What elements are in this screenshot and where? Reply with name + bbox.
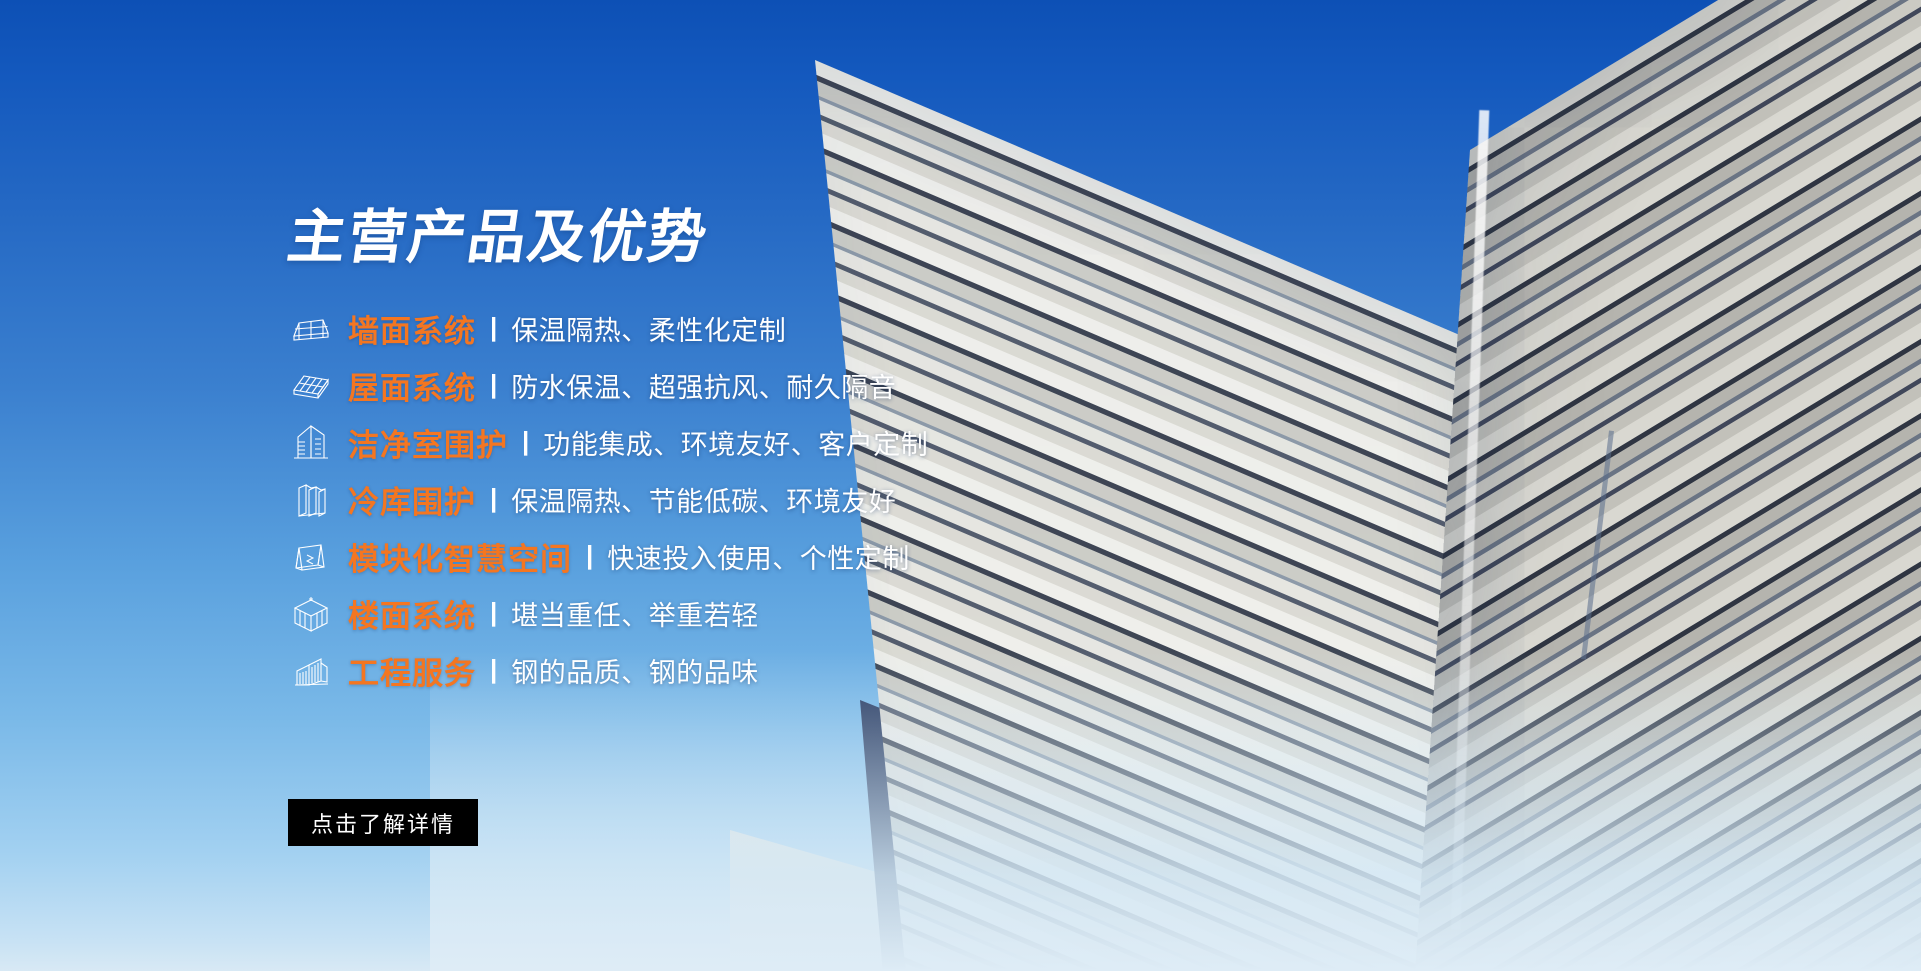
separator: | <box>586 540 593 571</box>
product-title: 工程服务 <box>348 648 476 693</box>
list-item[interactable]: 屋面系统 | 防水保温、超强抗风、耐久隔音 <box>288 357 928 414</box>
product-desc: 防水保温、超强抗风、耐久隔音 <box>511 366 896 405</box>
wall-frame-icon <box>288 306 334 352</box>
engineering-complex-icon <box>288 648 334 694</box>
product-advantage-banner: 主营产品及优势 墙面系统 | 保温隔热、柔性化定制 <box>0 0 1921 971</box>
separator: | <box>490 369 497 400</box>
product-title: 楼面系统 <box>348 591 476 636</box>
cold-storage-icon <box>288 477 334 523</box>
product-desc: 保温隔热、柔性化定制 <box>511 309 786 348</box>
list-item[interactable]: 工程服务 | 钢的品质、钢的品味 <box>288 642 928 699</box>
product-title: 墙面系统 <box>348 306 476 351</box>
banner-content: 主营产品及优势 墙面系统 | 保温隔热、柔性化定制 <box>0 0 1921 971</box>
separator: | <box>522 426 529 457</box>
product-title: 屋面系统 <box>348 363 476 408</box>
product-title: 洁净室围护 <box>348 420 508 465</box>
roof-panel-icon <box>288 363 334 409</box>
floor-deck-box-icon <box>288 591 334 637</box>
modular-cube-icon <box>288 534 334 580</box>
cleanroom-building-icon <box>288 420 334 466</box>
list-item[interactable]: 模块化智慧空间 | 快速投入使用、个性定制 <box>288 528 928 585</box>
product-desc: 堪当重任、举重若轻 <box>511 594 759 633</box>
product-desc: 功能集成、环境友好、客户定制 <box>543 423 928 462</box>
product-title: 模块化智慧空间 <box>348 534 572 579</box>
separator: | <box>490 483 497 514</box>
product-list: 墙面系统 | 保温隔热、柔性化定制 屋面系统 <box>288 300 928 699</box>
product-desc: 快速投入使用、个性定制 <box>607 537 910 576</box>
separator: | <box>490 597 497 628</box>
separator: | <box>490 654 497 685</box>
page-title: 主营产品及优势 <box>284 208 712 266</box>
product-title: 冷库围护 <box>348 477 476 522</box>
list-item[interactable]: 楼面系统 | 堪当重任、举重若轻 <box>288 585 928 642</box>
list-item[interactable]: 墙面系统 | 保温隔热、柔性化定制 <box>288 300 928 357</box>
list-item[interactable]: 洁净室围护 | 功能集成、环境友好、客户定制 <box>288 414 928 471</box>
learn-more-button[interactable]: 点击了解详情 <box>288 799 478 846</box>
product-desc: 保温隔热、节能低碳、环境友好 <box>511 480 896 519</box>
product-desc: 钢的品质、钢的品味 <box>511 651 759 690</box>
list-item[interactable]: 冷库围护 | 保温隔热、节能低碳、环境友好 <box>288 471 928 528</box>
separator: | <box>490 312 497 343</box>
